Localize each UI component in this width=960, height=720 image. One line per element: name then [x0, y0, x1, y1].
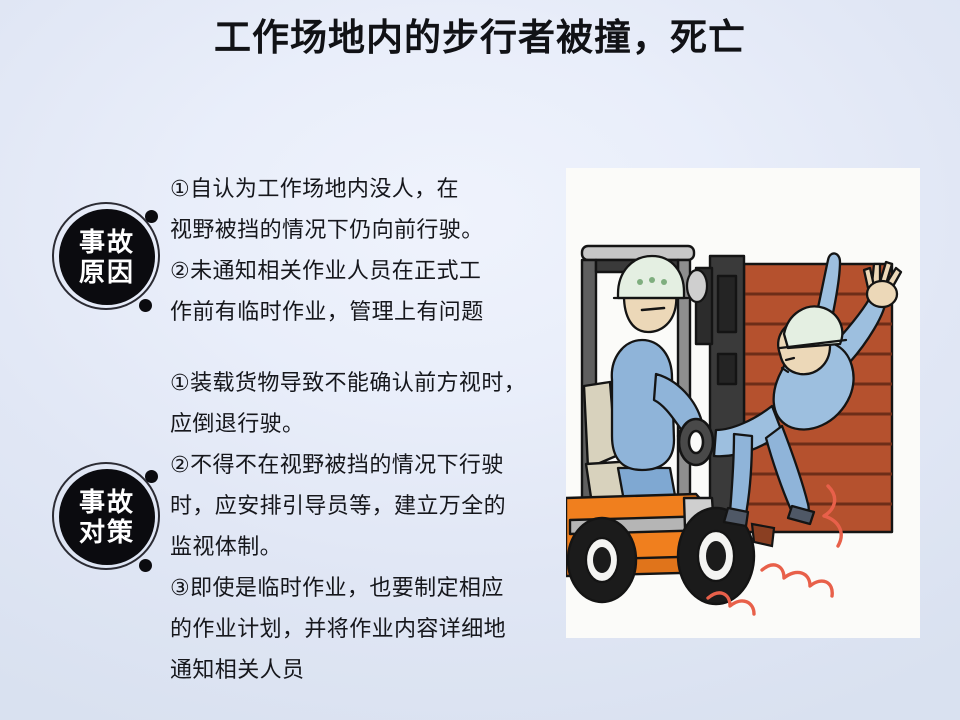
badge-label-line1: 事故: [79, 487, 135, 517]
page-title: 工作场地内的步行者被撞，死亡: [0, 12, 960, 64]
countermeasure-line: 的作业计划，并将作业内容详细地: [170, 608, 550, 649]
countermeasure-line: ②不得不在视野被挡的情况下行驶: [170, 444, 550, 485]
badge-disc: 事故 对策: [59, 469, 155, 565]
badge-accident-countermeasure[interactable]: 事故 对策: [52, 462, 164, 574]
badge-dot-top-icon: [145, 470, 158, 483]
cause-line: ①自认为工作场地内没人，在: [170, 168, 550, 209]
fork-tip: [752, 524, 774, 546]
countermeasure-line: ①装载货物导致不能确认前方视时，: [170, 362, 550, 403]
badge-disc: 事故 原因: [59, 209, 155, 305]
mirror-icon: [687, 270, 707, 302]
countermeasure-line: 应倒退行驶。: [170, 403, 550, 444]
countermeasure-line: 监视体制。: [170, 526, 550, 567]
steering-wheel: [679, 419, 713, 465]
badge-label-line1: 事故: [79, 227, 135, 257]
badge-label-line2: 对策: [79, 517, 135, 547]
slide-canvas: 工作场地内的步行者被撞，死亡 事故 原因 事故 对策 ①自认为工作场地内没人，在…: [0, 0, 960, 720]
badge-dot-bottom-icon: [139, 559, 152, 572]
countermeasure-line: 时，应安排引导员等，建立万全的: [170, 485, 550, 526]
badge-accident-cause[interactable]: 事故 原因: [52, 202, 164, 314]
cause-line: 作前有临时作业，管理上有问题: [170, 291, 550, 332]
badge-label-line2: 原因: [79, 257, 135, 287]
countermeasure-line: ③即使是临时作业，也要制定相应: [170, 567, 550, 608]
forklift-striking-pedestrian-icon: [566, 168, 920, 638]
cause-line: 视野被挡的情况下仍向前行驶。: [170, 209, 550, 250]
badge-dot-bottom-icon: [139, 299, 152, 312]
countermeasure-line: 通知相关人员: [170, 649, 550, 690]
badge-dot-top-icon: [145, 210, 158, 223]
accident-countermeasure-text: ①装载货物导致不能确认前方视时， 应倒退行驶。 ②不得不在视野被挡的情况下行驶 …: [170, 362, 550, 690]
accident-cause-text: ①自认为工作场地内没人，在 视野被挡的情况下仍向前行驶。 ②未通知相关作业人员在…: [170, 168, 550, 332]
accident-illustration: [566, 168, 920, 638]
cause-line: ②未通知相关作业人员在正式工: [170, 250, 550, 291]
